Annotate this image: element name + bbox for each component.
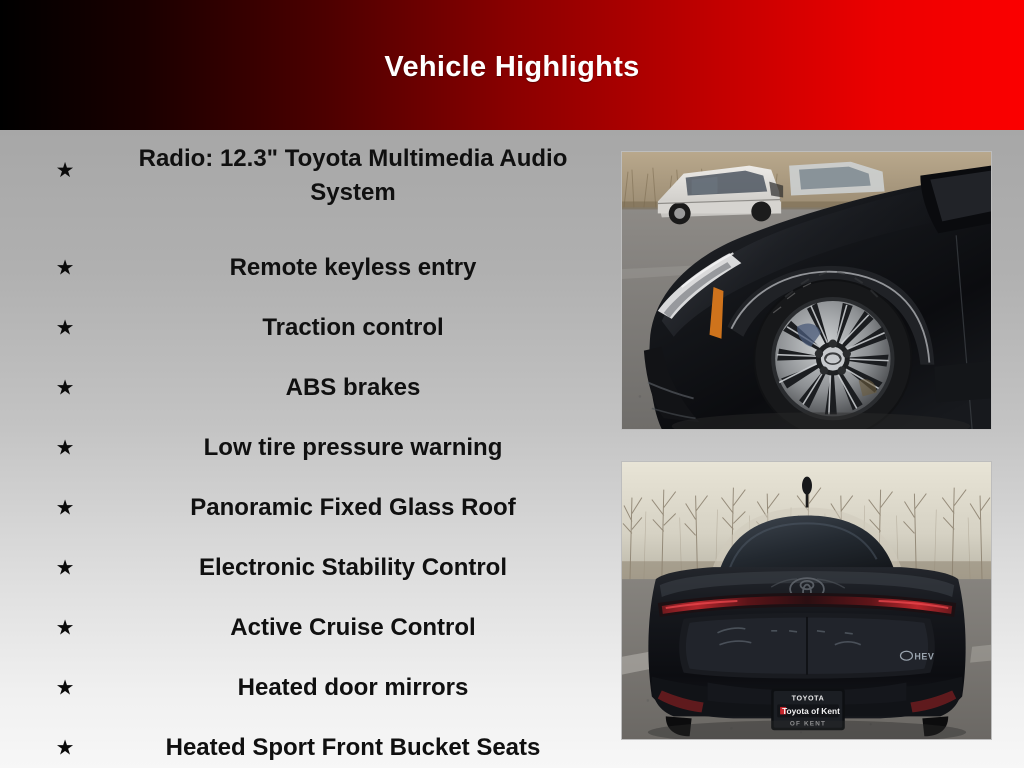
svg-text:HEV: HEV [914, 652, 934, 662]
star-icon: ★ [52, 378, 78, 399]
star-icon: ★ [52, 618, 78, 639]
feature-label: Heated Sport Front Bucket Seats [40, 731, 652, 765]
vehicle-highlights-slide: Vehicle Highlights ★ Radio: 12.3" Toyota… [0, 0, 1024, 768]
feature-label: Active Cruise Control [40, 611, 652, 645]
page-title: Vehicle Highlights [0, 48, 1024, 86]
feature-label: Heated door mirrors [40, 671, 652, 705]
star-icon: ★ [52, 318, 78, 339]
feature-label: Radio: 12.3" Toyota Multimedia Audio Sys… [40, 142, 652, 210]
list-item[interactable]: ★ Heated Sport Front Bucket Seats [40, 718, 652, 768]
feature-label: ABS brakes [40, 371, 652, 405]
rear-view-image: HEV TOYOTA Toyota of Kent OF KENT [622, 462, 991, 739]
feature-label: Traction control [40, 311, 652, 345]
list-item[interactable]: ★ Panoramic Fixed Glass Roof [40, 478, 652, 538]
list-item[interactable]: ★ Active Cruise Control [40, 598, 652, 658]
star-icon: ★ [52, 160, 78, 181]
star-icon: ★ [52, 738, 78, 759]
list-item[interactable]: ★ Traction control [40, 298, 652, 358]
list-item[interactable]: ★ Heated door mirrors [40, 658, 652, 718]
rear-view-photo[interactable]: HEV TOYOTA Toyota of Kent OF KENT [621, 461, 992, 740]
feature-label: Electronic Stability Control [40, 551, 652, 585]
front-quarter-wheel-photo[interactable] [621, 151, 992, 430]
plate-frame-top-text: TOYOTA [792, 694, 825, 702]
star-icon: ★ [52, 678, 78, 699]
list-item[interactable]: ★ Remote keyless entry [40, 238, 652, 298]
dealer-name-text: Toyota of Kent [782, 706, 840, 716]
vehicle-features-list: ★ Radio: 12.3" Toyota Multimedia Audio S… [0, 130, 652, 768]
star-icon: ★ [52, 258, 78, 279]
star-icon: ★ [52, 558, 78, 579]
list-item[interactable]: ★ Low tire pressure warning [40, 418, 652, 478]
star-icon: ★ [52, 498, 78, 519]
header-banner: Vehicle Highlights [0, 0, 1024, 130]
star-icon: ★ [52, 438, 78, 459]
list-item[interactable]: ★ Electronic Stability Control [40, 538, 652, 598]
feature-label: Low tire pressure warning [40, 431, 652, 465]
feature-label: Panoramic Fixed Glass Roof [40, 491, 652, 525]
feature-label: Remote keyless entry [40, 251, 652, 285]
list-item[interactable]: ★ Radio: 12.3" Toyota Multimedia Audio S… [40, 136, 652, 238]
front-quarter-wheel-image [622, 152, 991, 429]
list-item[interactable]: ★ ABS brakes [40, 358, 652, 418]
